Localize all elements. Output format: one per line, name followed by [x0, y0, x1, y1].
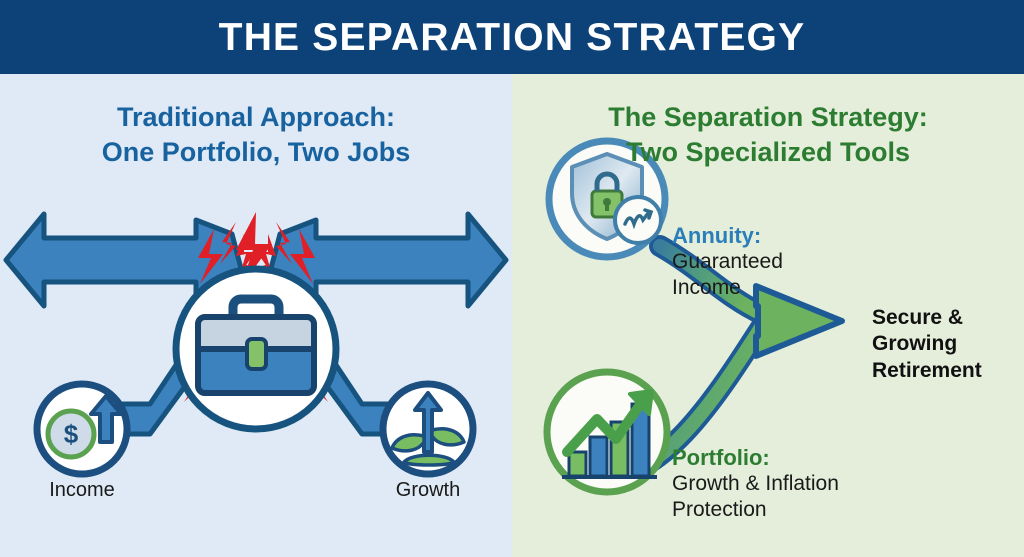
outcome-line-3: Retirement: [872, 358, 1022, 384]
left-heading-line-1: Traditional Approach:: [0, 100, 512, 135]
outcome-text-block: Secure & Growing Retirement: [872, 305, 1022, 384]
annuity-text-block: Annuity: Guaranteed Income: [672, 223, 783, 301]
dollar-coin-up-arrow-icon: $: [37, 384, 127, 474]
portfolio-title: Portfolio:: [672, 445, 839, 471]
outcome-line-2: Growing: [872, 331, 1022, 357]
income-label: Income: [17, 479, 147, 502]
right-heading-line-2: Two Specialized Tools: [512, 135, 1024, 170]
left-panel-scene: Traditional Approach: One Portfolio, Two…: [0, 74, 512, 557]
outcome-line-1: Secure &: [872, 305, 1022, 331]
svg-text:$: $: [64, 419, 79, 449]
right-panel-heading: The Separation Strategy: Two Specialized…: [512, 100, 1024, 169]
bar-chart-growth-icon: [547, 372, 667, 492]
portfolio-desc-line-1: Growth & Inflation: [672, 471, 839, 497]
page-title: THE SEPARATION STRATEGY: [219, 18, 806, 57]
plant-growth-up-arrow-icon: [383, 384, 473, 474]
portfolio-text-block: Portfolio: Growth & Inflation Protection: [672, 445, 839, 523]
right-heading-line-1: The Separation Strategy:: [512, 100, 1024, 135]
infographic-root: THE SEPARATION STRATEGY Traditional Appr…: [0, 0, 1024, 557]
annuity-desc-line-1: Guaranteed: [672, 249, 783, 275]
portfolio-desc-line-2: Protection: [672, 497, 839, 523]
left-heading-line-2: One Portfolio, Two Jobs: [0, 135, 512, 170]
growth-label: Growth: [363, 479, 493, 502]
left-panel-heading: Traditional Approach: One Portfolio, Two…: [0, 100, 512, 169]
annuity-desc-line-2: Income: [672, 275, 783, 301]
briefcase-icon: [176, 269, 336, 429]
right-panel-scene: The Separation Strategy: Two Specialized…: [512, 74, 1024, 557]
header-bar: THE SEPARATION STRATEGY: [0, 0, 1024, 74]
annuity-title: Annuity:: [672, 223, 783, 249]
